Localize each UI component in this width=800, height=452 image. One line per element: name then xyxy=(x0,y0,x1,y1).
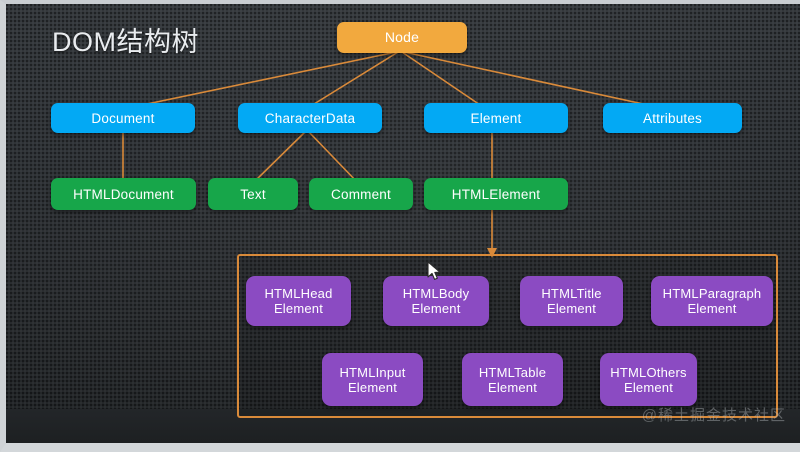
node-htmlinputelement-label: HTMLInput Element xyxy=(339,365,405,395)
node-htmltitleelement-label: HTMLTitle Element xyxy=(541,286,601,316)
node-htmldocument-label: HTMLDocument xyxy=(73,187,174,202)
node-text-label: Text xyxy=(240,187,266,202)
edge-characterdata-text xyxy=(252,131,306,184)
node-node-label: Node xyxy=(385,30,419,45)
node-htmldocument[interactable]: HTMLDocument xyxy=(51,178,196,210)
slide-stage: DOM结构树 xyxy=(0,0,800,452)
slide-canvas: DOM结构树 xyxy=(6,4,800,443)
node-htmlotherselement[interactable]: HTMLOthers Element xyxy=(600,353,697,406)
node-document[interactable]: Document xyxy=(51,103,195,133)
node-node[interactable]: Node xyxy=(337,22,467,53)
node-htmlparagraphelement[interactable]: HTMLParagraph Element xyxy=(651,276,773,326)
node-comment[interactable]: Comment xyxy=(309,178,413,210)
node-htmltableelement[interactable]: HTMLTable Element xyxy=(462,353,563,406)
node-element[interactable]: Element xyxy=(424,103,568,133)
watermark-text: @稀土掘金技术社区 xyxy=(642,404,786,425)
node-htmlbodyelement-label: HTMLBody Element xyxy=(403,286,470,316)
node-document-label: Document xyxy=(91,111,154,126)
node-characterdata[interactable]: CharacterData xyxy=(238,103,382,133)
node-htmltableelement-label: HTMLTable Element xyxy=(479,365,546,395)
node-characterdata-label: CharacterData xyxy=(265,111,355,126)
node-comment-label: Comment xyxy=(331,187,391,202)
node-attributes[interactable]: Attributes xyxy=(603,103,742,133)
node-htmlinputelement[interactable]: HTMLInput Element xyxy=(322,353,423,406)
edge-characterdata-comment xyxy=(308,131,359,184)
node-element-label: Element xyxy=(471,111,522,126)
node-htmlelement-label: HTMLElement xyxy=(452,187,540,202)
node-htmlelement[interactable]: HTMLElement xyxy=(424,178,568,210)
node-attributes-label: Attributes xyxy=(643,111,702,126)
node-htmltitleelement[interactable]: HTMLTitle Element xyxy=(520,276,623,326)
node-htmlheadelement[interactable]: HTMLHead Element xyxy=(246,276,351,326)
node-htmlbodyelement[interactable]: HTMLBody Element xyxy=(383,276,489,326)
node-htmlparagraphelement-label: HTMLParagraph Element xyxy=(663,286,762,316)
edge-node-document xyxy=(123,52,396,109)
node-htmlotherselement-label: HTMLOthers Element xyxy=(610,365,686,395)
node-htmlheadelement-label: HTMLHead Element xyxy=(264,286,332,316)
node-text[interactable]: Text xyxy=(208,178,298,210)
